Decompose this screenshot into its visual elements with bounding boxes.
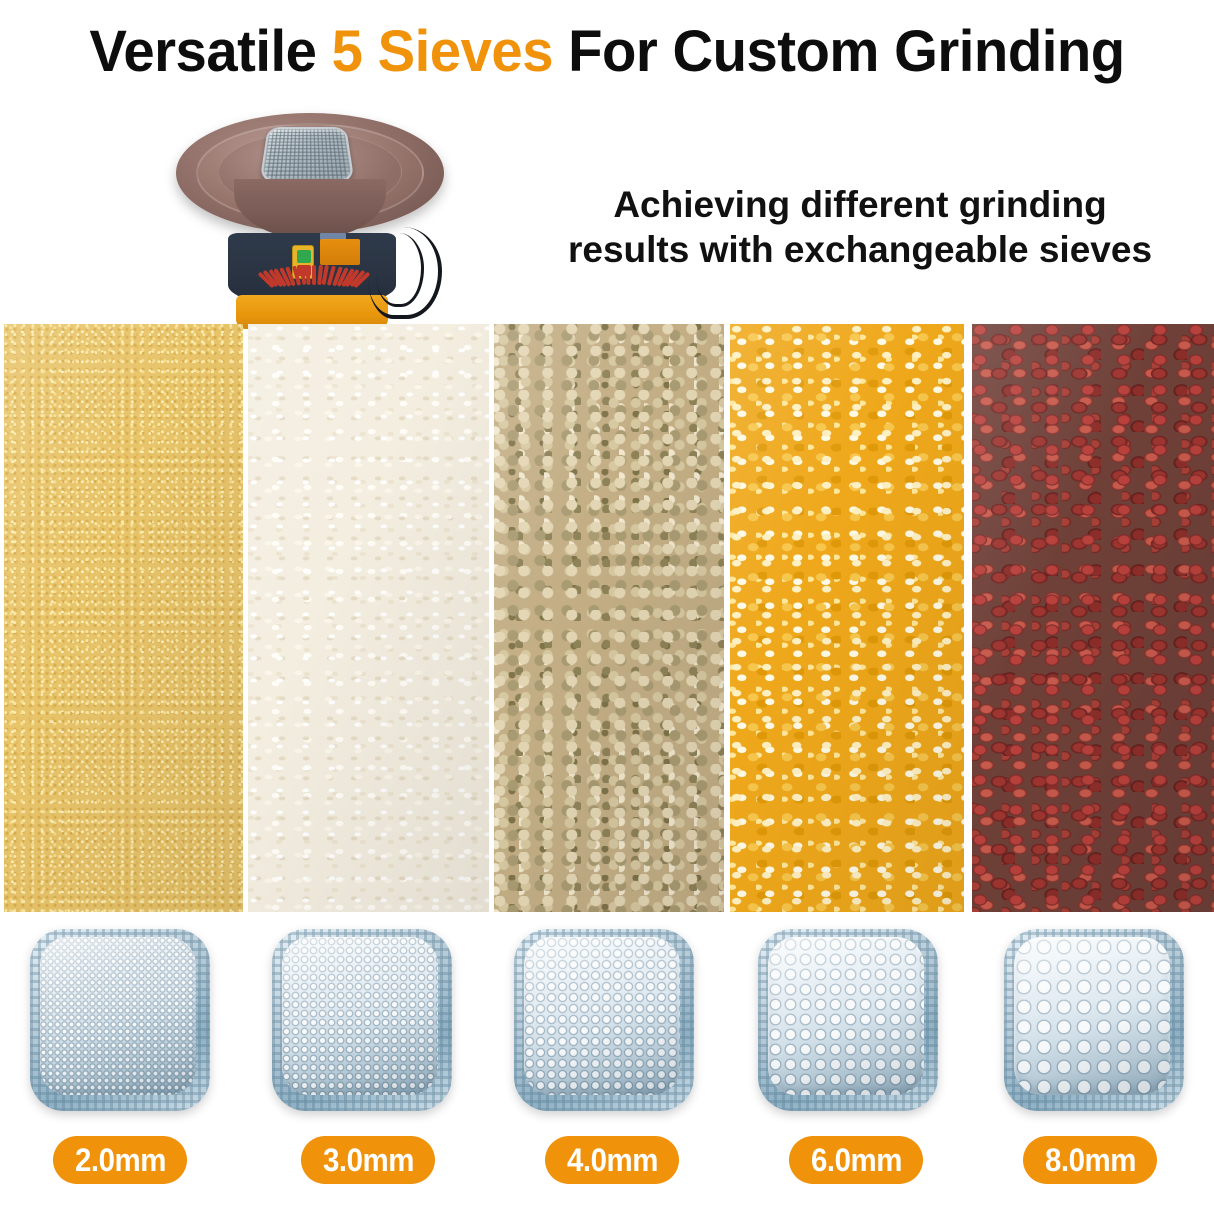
grinder-mesh-sieve-icon — [259, 127, 354, 182]
sieve-hole-pattern — [768, 937, 924, 1095]
sieve-plate-2.0mm[interactable] — [0, 925, 241, 1125]
sieve-size-badge-row: 2.0mm3.0mm4.0mm6.0mm8.0mm — [0, 1136, 1214, 1188]
sieve-plate-8.0mm[interactable] — [973, 925, 1214, 1125]
grain-texture-corn-grits — [730, 324, 964, 912]
product-infographic: Versatile 5 Sieves For Custom Grinding A… — [0, 0, 1214, 1214]
sieve-size-badge-label: 8.0mm — [1045, 1144, 1136, 1176]
sieve-face — [40, 937, 196, 1095]
grain-sample-strip — [0, 324, 1214, 912]
power-cord-inner — [376, 233, 424, 307]
sieve-face — [768, 937, 924, 1095]
grinder-lid-skirt — [234, 179, 386, 239]
sieve-size-badge-label: 4.0mm — [567, 1144, 658, 1176]
sieve-face — [282, 937, 438, 1095]
grain-texture-millet — [4, 324, 243, 912]
power-on-button[interactable] — [297, 250, 311, 263]
page-title: Versatile 5 Sieves For Custom Grinding — [18, 22, 1196, 83]
grain-panel-corn-grits — [730, 324, 964, 912]
sieve-face — [1014, 937, 1170, 1095]
grain-panel-adzuki-beans — [972, 324, 1214, 912]
sieve-plate-6.0mm[interactable] — [727, 925, 969, 1125]
grain-texture-adzuki-beans — [972, 324, 1214, 912]
sieve-size-badge-label: 3.0mm — [323, 1144, 414, 1176]
grinder-warning-label — [320, 239, 360, 265]
sieve-hole-pattern — [40, 937, 196, 1095]
subtitle-line-2: results with exchangeable sieves — [510, 227, 1210, 272]
sieve-size-badge-2.0mm[interactable]: 2.0mm — [53, 1136, 187, 1184]
grain-texture-buckwheat — [494, 324, 724, 912]
grain-texture-rice — [248, 324, 489, 912]
sieve-plate-row — [0, 925, 1214, 1125]
sieve-plate-4.0mm[interactable] — [483, 925, 725, 1125]
grinder-vent-slot — [305, 265, 311, 285]
subtitle: Achieving different grinding results wit… — [510, 182, 1210, 272]
grain-panel-rice — [248, 324, 489, 912]
subtitle-line-1: Achieving different grinding — [510, 182, 1210, 227]
sieve-face — [524, 937, 680, 1095]
sieve-size-badge-4.0mm[interactable]: 4.0mm — [545, 1136, 679, 1184]
sieve-size-badge-label: 6.0mm — [811, 1144, 902, 1176]
sieve-size-badge-label: 2.0mm — [75, 1144, 166, 1176]
sieve-size-badge-8.0mm[interactable]: 8.0mm — [1023, 1136, 1157, 1184]
grain-panel-buckwheat — [494, 324, 724, 912]
sieve-hole-pattern — [1014, 937, 1170, 1095]
grinder-illustration — [160, 105, 460, 325]
sieve-hole-pattern — [524, 937, 680, 1095]
grinder-vent-slot — [312, 265, 316, 285]
sieve-hole-pattern — [282, 937, 438, 1095]
headline-part2: For Custom Grinding — [553, 19, 1125, 84]
headline-part1: Versatile — [89, 19, 331, 84]
sieve-plate-3.0mm[interactable] — [241, 925, 483, 1125]
headline-accent: 5 Sieves — [332, 19, 553, 84]
sieve-size-badge-3.0mm[interactable]: 3.0mm — [301, 1136, 435, 1184]
sieve-size-badge-6.0mm[interactable]: 6.0mm — [789, 1136, 923, 1184]
grain-panel-millet — [4, 324, 243, 912]
